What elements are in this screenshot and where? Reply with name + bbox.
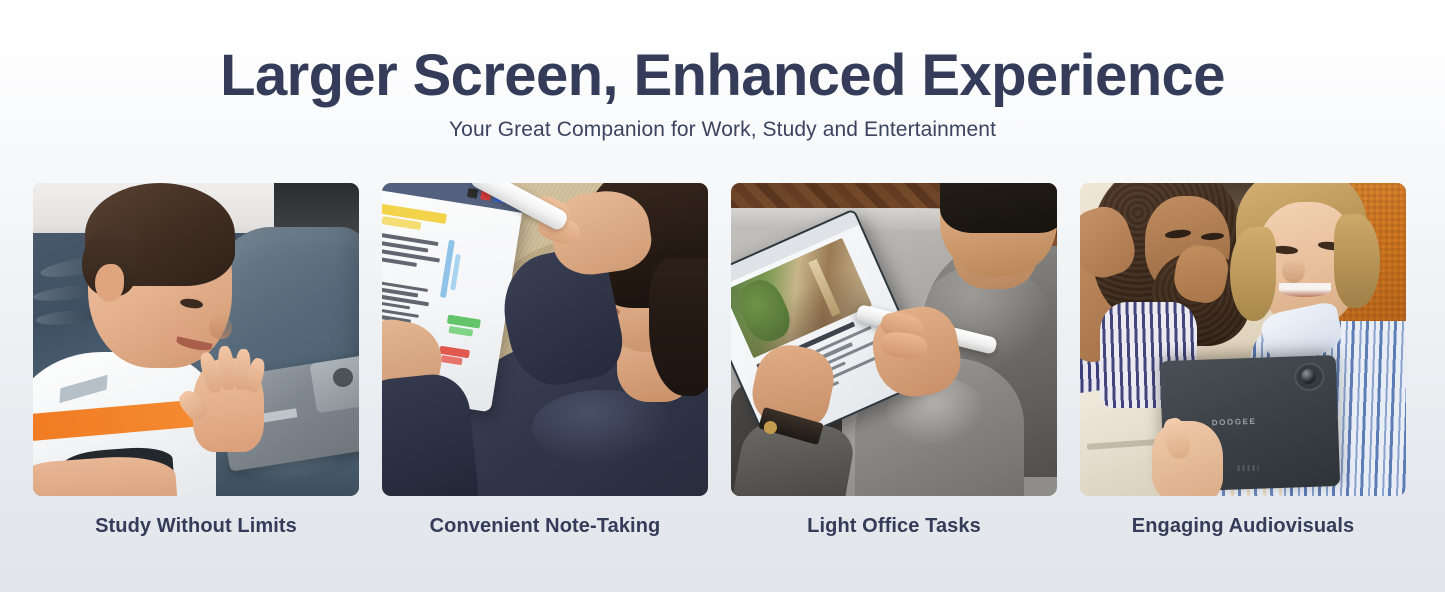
feature-card-engaging-audiovisuals[interactable]: DOOGEE Engaging Audiovisuals bbox=[1080, 183, 1406, 538]
caption-light-office-tasks: Light Office Tasks bbox=[807, 515, 981, 538]
photo-engaging-audiovisuals: DOOGEE bbox=[1080, 183, 1406, 496]
header: Larger Screen, Enhanced Experience Your … bbox=[0, 0, 1445, 142]
man-hair-strand bbox=[1230, 227, 1276, 321]
caption-engaging-audiovisuals: Engaging Audiovisuals bbox=[1132, 515, 1355, 538]
photo-light-office-tasks bbox=[731, 183, 1057, 496]
boy-ear bbox=[95, 264, 124, 302]
caption-convenient-note-taking: Convenient Note-Taking bbox=[430, 515, 661, 538]
man-hair-strand bbox=[1334, 214, 1380, 308]
page-subtitle: Your Great Companion for Work, Study and… bbox=[0, 118, 1445, 142]
caption-study-without-limits: Study Without Limits bbox=[95, 515, 297, 538]
feature-card-light-office-tasks[interactable]: Light Office Tasks bbox=[731, 183, 1057, 538]
photo-convenient-note-taking bbox=[382, 183, 708, 496]
tablet-camera-lens bbox=[1300, 369, 1315, 384]
note-highlight-blue bbox=[451, 254, 461, 290]
man-hair bbox=[940, 183, 1057, 233]
boy-nose bbox=[209, 314, 232, 339]
feature-card-study-without-limits[interactable]: Study Without Limits bbox=[33, 183, 359, 538]
man-nose bbox=[1282, 258, 1305, 283]
photo-study-without-limits bbox=[33, 183, 359, 496]
promo-banner: Larger Screen, Enhanced Experience Your … bbox=[0, 0, 1445, 592]
page-title: Larger Screen, Enhanced Experience bbox=[0, 46, 1445, 107]
doogee-brand-logo: DOOGEE bbox=[1207, 416, 1260, 428]
note-highlight-green bbox=[449, 326, 474, 336]
tablet-speaker-grille bbox=[1237, 465, 1258, 472]
feature-card-row: Study Without Limits bbox=[33, 183, 1406, 538]
feature-card-convenient-note-taking[interactable]: Convenient Note-Taking bbox=[382, 183, 708, 538]
